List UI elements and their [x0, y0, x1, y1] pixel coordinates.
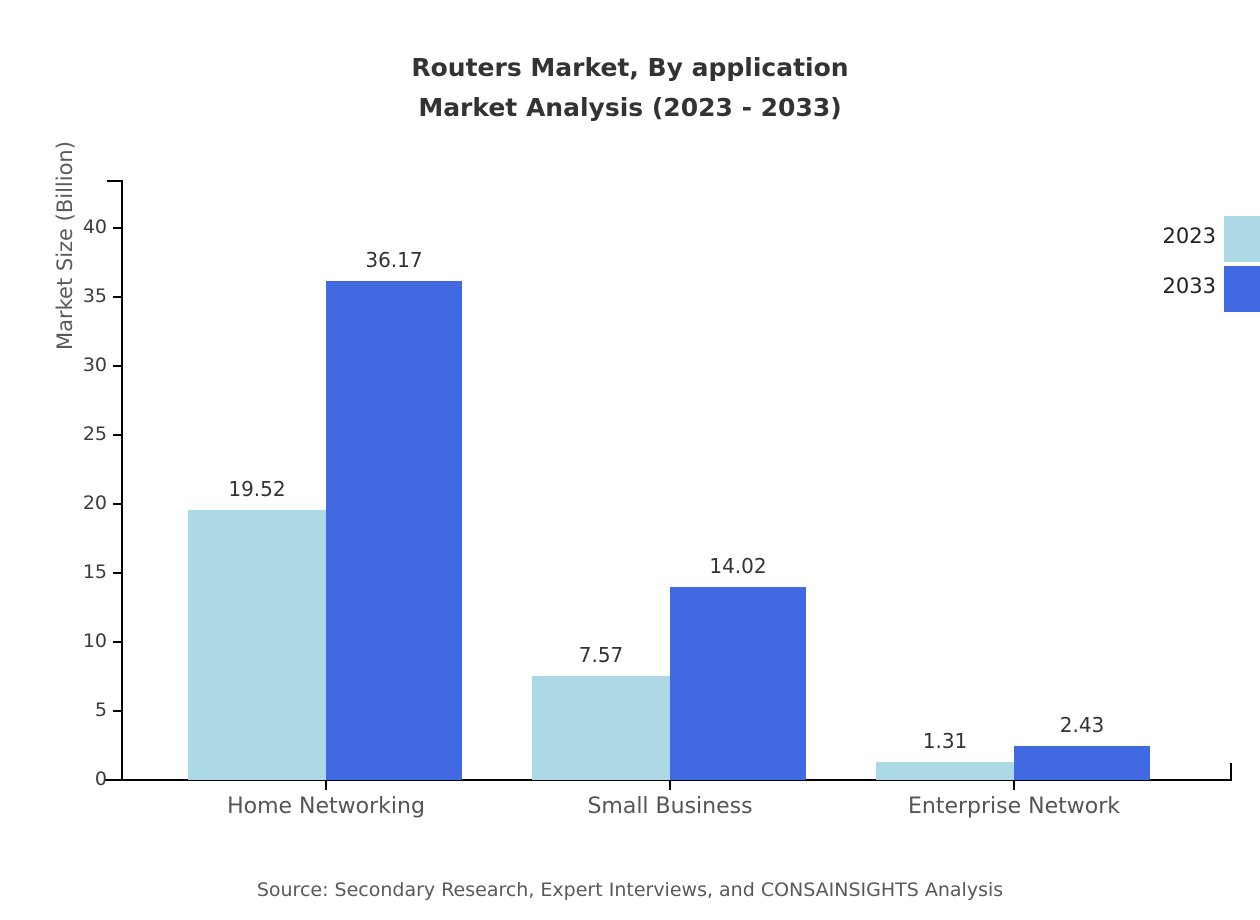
- y-tick-label-10: 10: [59, 632, 107, 651]
- y-tick-5: [113, 710, 121, 712]
- x-tick-small-business: [669, 781, 671, 790]
- y-tick-label-20: 20: [59, 494, 107, 513]
- y-tick-label-15: 15: [59, 563, 107, 582]
- bar-home-networking-2033[interactable]: [326, 281, 462, 780]
- bar-enterprise-network-2023[interactable]: [876, 762, 1014, 780]
- chart-legend: 2023 2033: [1130, 216, 1260, 320]
- chart-title-line-1: Routers Market, By application: [0, 48, 1260, 88]
- legend-swatch-2033: [1224, 266, 1260, 312]
- source-note: Source: Secondary Research, Expert Inter…: [0, 878, 1260, 902]
- x-axis-end-cap: [1230, 763, 1232, 781]
- y-tick-10: [113, 641, 121, 643]
- y-tick-25: [113, 434, 121, 436]
- y-tick-15: [113, 572, 121, 574]
- chart-title: Routers Market, By application Market An…: [0, 48, 1260, 128]
- y-tick-20: [113, 503, 121, 505]
- legend-label-2023: 2023: [1130, 225, 1216, 247]
- bar-small-business-2033[interactable]: [670, 587, 806, 780]
- x-axis-label-home-networking: Home Networking: [196, 795, 456, 819]
- chart-title-line-2: Market Analysis (2023 - 2033): [0, 88, 1260, 128]
- legend-label-2033: 2033: [1130, 275, 1216, 297]
- y-axis-title: Market Size (Billion): [53, 141, 77, 350]
- y-axis-spine: [121, 180, 123, 781]
- x-axis-label-enterprise-network: Enterprise Network: [884, 795, 1144, 819]
- bar-value-home-networking-2023: 19.52: [188, 479, 326, 499]
- legend-swatch-2023: [1224, 216, 1260, 262]
- x-tick-enterprise-network: [1013, 781, 1015, 790]
- bar-value-small-business-2033: 14.02: [670, 556, 806, 576]
- x-tick-home-networking: [325, 781, 327, 790]
- bar-value-enterprise-network-2033: 2.43: [1014, 715, 1150, 735]
- y-tick-label-25: 25: [59, 425, 107, 444]
- plot-area: 0 5 10 15 20 25 30 35 40 Market Size (Bi…: [121, 180, 1232, 781]
- legend-item-2033[interactable]: 2033: [1130, 266, 1260, 314]
- y-tick-label-5: 5: [59, 701, 107, 720]
- y-tick-label-30: 30: [59, 356, 107, 375]
- y-tick-40: [113, 227, 121, 229]
- bar-chart: Routers Market, By application Market An…: [0, 0, 1260, 920]
- bar-value-small-business-2023: 7.57: [532, 645, 670, 665]
- y-tick-30: [113, 365, 121, 367]
- bar-small-business-2023[interactable]: [532, 676, 670, 780]
- bar-value-home-networking-2033: 36.17: [326, 250, 462, 270]
- x-axis-label-small-business: Small Business: [540, 795, 800, 819]
- y-tick-0: [113, 779, 121, 781]
- y-axis-top-cap: [107, 180, 123, 182]
- y-tick-35: [113, 296, 121, 298]
- bar-home-networking-2023[interactable]: [188, 510, 326, 780]
- legend-item-2023[interactable]: 2023: [1130, 216, 1260, 264]
- y-tick-label-0: 0: [59, 770, 107, 789]
- bar-enterprise-network-2033[interactable]: [1014, 746, 1150, 780]
- bar-value-enterprise-network-2023: 1.31: [876, 731, 1014, 751]
